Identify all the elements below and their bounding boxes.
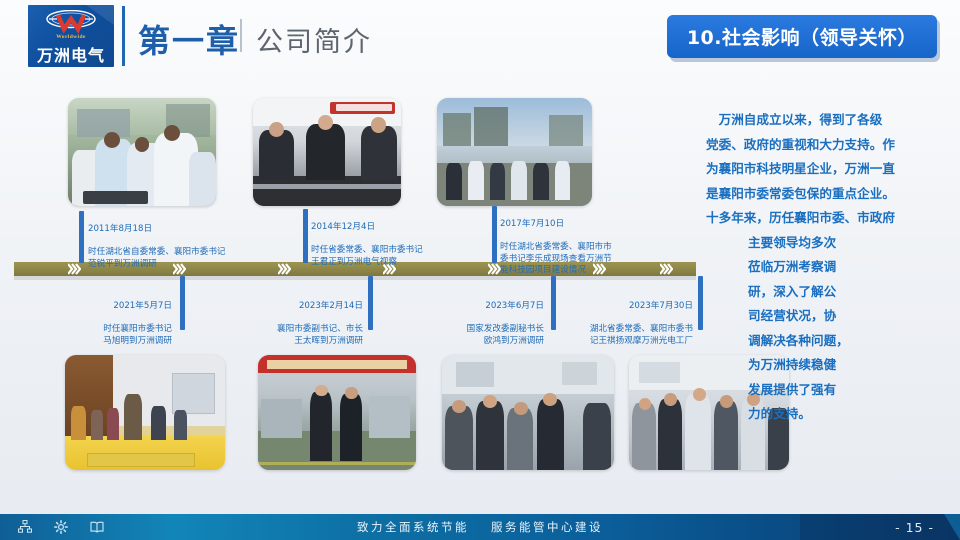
paragraph-line: 为万洲持续稳健 — [706, 353, 950, 378]
footer-slogan-left: 致力全面系统节能 — [357, 519, 469, 535]
paragraph-line: 万洲自成立以来，得到了各级 — [706, 108, 950, 133]
section-badge-label: 10.社会影响（领导关怀） — [687, 23, 917, 50]
logo-company-name: 万洲电气 — [28, 42, 114, 66]
page-number: - 15 - — [895, 514, 934, 540]
paragraph-line: 为襄阳市科技明星企业，万洲一直 — [706, 157, 950, 182]
logo-w-mark — [44, 10, 98, 34]
caption-date: 2023年7月30日 — [545, 301, 693, 312]
caption-2011: 2011年8月18日 时任湖北省自委常委、襄阳市委书记 范锐平到万洲调研 — [88, 213, 298, 281]
slide-header: Worldwide 万洲电气 第一章 公司简介 10.社会影响（领导关怀） — [0, 0, 960, 76]
caption-body: 襄阳市委副书记、市长 王太晖到万洲调研 — [180, 324, 363, 347]
caption-body: 时任湖北省委常委、襄阳市市 委书记李乐成现场查看万洲节 能科技园项目建设情况 — [500, 242, 675, 276]
company-logo: Worldwide 万洲电气 — [28, 5, 114, 67]
paragraph-line: 十多年来，历任襄阳市委、市政府 — [706, 206, 950, 231]
chapter-title: 第一章 — [138, 16, 240, 62]
paragraph-line: 司经营状况，协 — [706, 304, 950, 329]
photo-2021-visit — [65, 355, 225, 470]
photo-2023-06-visit — [442, 355, 614, 470]
paragraph-line: 主要领导均多次 — [706, 231, 950, 256]
caption-2021: 2021年5月7日 时任襄阳市委书记 马旭明到万洲调研 — [0, 290, 172, 358]
section-badge: 10.社会影响（领导关怀） — [667, 15, 937, 58]
timeline-tick-up — [79, 211, 84, 263]
photo-2017-visit — [437, 98, 592, 206]
paragraph-line: 发展提供了强有 — [706, 378, 950, 403]
caption-date: 2023年6月7日 — [370, 301, 544, 312]
caption-body: 时任襄阳市委书记 马旭明到万洲调研 — [0, 324, 172, 347]
caption-2023-07: 2023年7月30日 湖北省委常委、襄阳市委书 记王祺扬观摩万洲光电工厂 — [545, 290, 693, 358]
caption-date: 2023年2月14日 — [180, 301, 363, 312]
caption-2014: 2014年12月4日 时任省委常委、襄阳市委书记 王君正到万洲电气视察 — [311, 211, 491, 279]
paragraph-line: 调解决各种问题， — [706, 329, 950, 354]
slide-footer: 致力全面系统节能 服务能管中心建设 - 15 - — [0, 514, 960, 540]
description-paragraph: 万洲自成立以来，得到了各级 党委、政府的重视和大力支持。作 为襄阳市科技明星企业… — [706, 108, 950, 427]
timeline-tick-up — [303, 209, 308, 263]
logo-sub-text: Worldwide — [28, 34, 114, 40]
footer-slogan-right: 服务能管中心建设 — [491, 519, 603, 535]
photo-2014-visit — [253, 98, 401, 206]
paragraph-line: 力的支持。 — [706, 402, 950, 427]
caption-2017: 2017年7月10日 时任湖北省委常委、襄阳市市 委书记李乐成现场查看万洲节 能… — [500, 208, 675, 288]
photo-2023-02-visit — [258, 355, 416, 470]
timeline-tick-down — [698, 276, 703, 330]
caption-date: 2014年12月4日 — [311, 222, 491, 233]
caption-body: 湖北省委常委、襄阳市委书 记王祺扬观摩万洲光电工厂 — [545, 324, 693, 347]
caption-date: 2017年7月10日 — [500, 219, 675, 230]
caption-body: 国家发改委副秘书长 欧鸿到万洲调研 — [370, 324, 544, 347]
caption-2023-06: 2023年6月7日 国家发改委副秘书长 欧鸿到万洲调研 — [370, 290, 544, 358]
caption-2023-02: 2023年2月14日 襄阳市委副书记、市长 王太晖到万洲调研 — [180, 290, 363, 358]
photo-2011-visit — [68, 98, 216, 206]
caption-date: 2021年5月7日 — [0, 301, 172, 312]
header-divider — [240, 19, 242, 52]
header-accent-bar — [122, 6, 125, 66]
paragraph-line: 是襄阳市委常委包保的重点企业。 — [706, 182, 950, 207]
paragraph-line: 研，深入了解公 — [706, 280, 950, 305]
caption-date: 2011年8月18日 — [88, 224, 298, 235]
paragraph-line: 党委、政府的重视和大力支持。作 — [706, 133, 950, 158]
page-subtitle: 公司简介 — [256, 20, 372, 59]
slide-canvas: Worldwide 万洲电气 第一章 公司简介 10.社会影响（领导关怀） — [0, 0, 960, 540]
timeline-tick-up — [492, 206, 497, 263]
caption-body: 时任省委常委、襄阳市委书记 王君正到万洲电气视察 — [311, 245, 491, 268]
chevron-group-icon — [68, 263, 81, 275]
paragraph-line: 莅临万洲考察调 — [706, 255, 950, 280]
caption-body: 时任湖北省自委常委、襄阳市委书记 范锐平到万洲调研 — [88, 247, 298, 270]
footer-slogan: 致力全面系统节能 服务能管中心建设 — [0, 514, 960, 540]
